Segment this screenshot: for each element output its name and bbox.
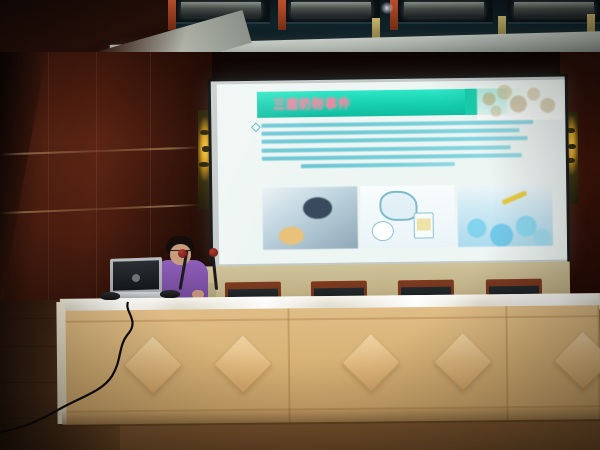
podium-panel-seam — [287, 308, 290, 422]
ceiling-spotlight-glow — [380, 2, 394, 14]
slide-floral-decoration — [477, 84, 563, 121]
slide-body-text — [261, 120, 542, 173]
microphone-head — [178, 249, 187, 258]
microphone-head — [209, 248, 218, 257]
ceiling-panel — [398, 0, 493, 24]
wall-seam — [96, 52, 97, 310]
podium-diamond-inlay — [213, 334, 272, 393]
cartoon-baby — [372, 221, 394, 241]
auditorium-presentation-photo: 三鹿奶粉事件 — [0, 0, 600, 450]
projection-screen: 三鹿奶粉事件 — [211, 77, 568, 268]
slide-text-line — [262, 153, 522, 161]
ceiling-light-trough — [291, 2, 371, 17]
cartoon-milk-can — [413, 213, 433, 239]
panel-motif — [568, 144, 576, 149]
diamond-bullet-icon — [251, 122, 261, 132]
podium-left-edge — [56, 302, 66, 424]
baby-patient-photo — [262, 186, 358, 249]
slide-title: 三鹿奶粉事件 — [273, 95, 351, 113]
wall-seam — [48, 52, 49, 310]
microphone-base — [100, 292, 120, 300]
podium-trim-rail — [62, 315, 600, 323]
slide-image-row — [262, 184, 553, 250]
microphone-base — [160, 290, 180, 298]
melamine-cartoon — [360, 185, 456, 248]
cartoon-figure — [379, 191, 417, 222]
ceiling-light-trough — [404, 2, 484, 17]
podium-diamond-inlay — [433, 332, 492, 391]
ceiling-light-trough — [514, 2, 594, 17]
slide-text-line — [262, 145, 511, 152]
excavator-arm — [501, 191, 527, 206]
podium-panel-seam — [505, 306, 508, 420]
panel-motif — [199, 162, 209, 167]
ceiling-accent-strip — [278, 0, 286, 30]
slide-text-line — [262, 136, 528, 144]
podium-diamond-inlay — [123, 335, 182, 394]
ceiling-accent-strip — [168, 0, 176, 30]
ceiling-light-trough — [181, 2, 261, 17]
slide-text-line — [261, 128, 519, 136]
slide-text-line — [301, 162, 455, 168]
destroyed-milk-powder-photo — [458, 184, 554, 247]
ceiling-panel — [285, 0, 380, 24]
presentation-slide: 三鹿奶粉事件 — [217, 80, 567, 265]
podium-diamond-inlay — [553, 331, 600, 390]
laptop-lid — [110, 257, 162, 295]
podium-diamond-inlay — [341, 333, 400, 392]
slide-text-line — [261, 120, 533, 128]
cartoon-can-label — [416, 219, 430, 231]
